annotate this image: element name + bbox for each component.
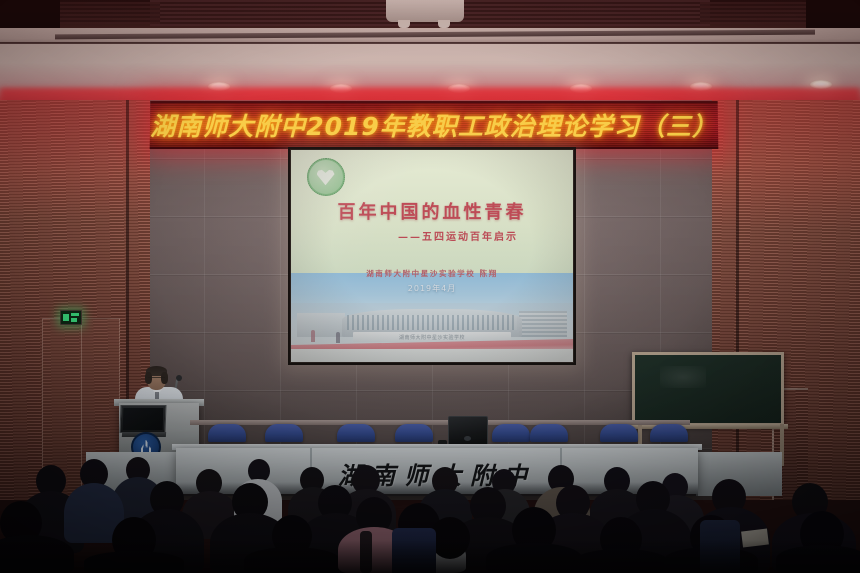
stage-chair bbox=[265, 424, 303, 442]
slide-title: 百年中国的血性青春 bbox=[291, 198, 573, 224]
emergency-exit-sign bbox=[60, 310, 82, 325]
stage-chair bbox=[600, 424, 638, 442]
laptop-screen bbox=[123, 408, 164, 430]
slide-bottom-band bbox=[291, 349, 573, 362]
slide-photo-person bbox=[311, 330, 315, 342]
slide-building-wing-right bbox=[519, 311, 567, 336]
stage-chair bbox=[395, 424, 433, 442]
stage-chair bbox=[492, 424, 530, 442]
right-wall-glow bbox=[712, 100, 860, 230]
ceiling-projector bbox=[386, 0, 464, 22]
presenter-monitor bbox=[448, 416, 488, 446]
slide-building-windows bbox=[347, 315, 516, 330]
stage-chair bbox=[650, 424, 688, 442]
stage-chair bbox=[208, 424, 246, 442]
slide-subtitle: ——五四运动百年启示 bbox=[291, 228, 573, 243]
monitor-logo bbox=[464, 436, 471, 441]
stage-chair bbox=[530, 424, 568, 442]
auditorium-photo: 湖南师大附中2019年教职工政治理论学习（三） 湖南师大附中星沙实验学校 百年中… bbox=[0, 0, 860, 573]
projector-lens-left bbox=[398, 20, 410, 28]
slide-presenter: 湖南师大附中星沙实验学校 陈翔 bbox=[291, 268, 573, 279]
led-banner: 湖南师大附中2019年教职工政治理论学习（三） bbox=[150, 101, 719, 149]
projector-lens-right bbox=[438, 20, 450, 28]
projection-screen: 湖南师大附中星沙实验学校 百年中国的血性青春 ——五四运动百年启示 湖南师大附中… bbox=[291, 150, 573, 362]
stage-chair bbox=[337, 424, 375, 442]
slide-photo-person bbox=[336, 332, 340, 343]
speaker-glasses bbox=[148, 377, 165, 383]
microphone-head bbox=[176, 375, 182, 381]
foreground-shadow bbox=[0, 540, 860, 573]
green-chalkboard bbox=[632, 352, 784, 426]
wall-corner-right bbox=[736, 100, 739, 500]
led-banner-text: 湖南师大附中2019年教职工政治理论学习（三） bbox=[150, 103, 719, 147]
slide-date: 2019年4月 bbox=[291, 283, 573, 294]
school-crest-ring bbox=[307, 158, 345, 196]
chalkboard-glare bbox=[660, 366, 706, 388]
